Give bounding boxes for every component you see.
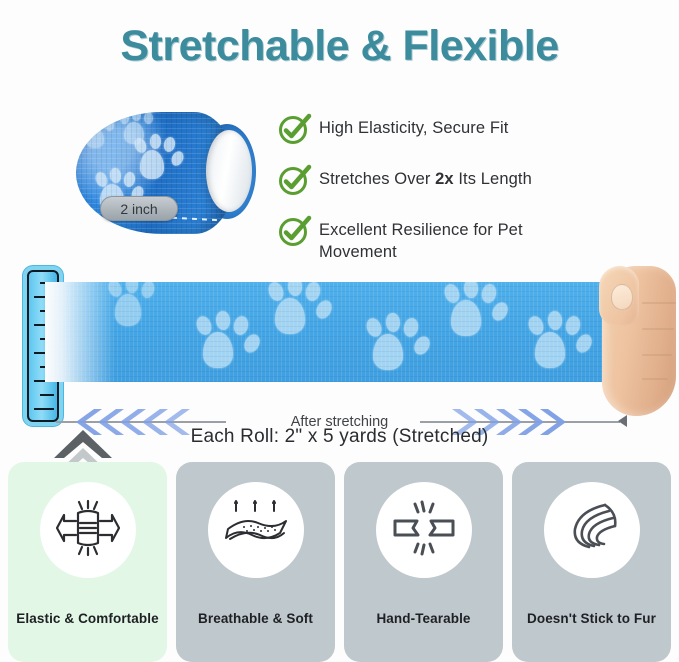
feature-card-elastic[interactable]: Elastic & Comfortable: [8, 462, 167, 662]
list-item-label: Excellent Resilience for Pet Movement: [319, 214, 544, 264]
feature-card-label: Breathable & Soft: [176, 611, 335, 626]
list-item: High Elasticity, Secure Fit: [278, 112, 658, 146]
thumb: [599, 266, 639, 326]
page-title: Stretchable & Flexible: [0, 22, 679, 71]
feature-card-breathable[interactable]: Breathable & Soft: [176, 462, 335, 662]
stretch-arrows-icon: [56, 499, 120, 562]
list-item: Stretches Over 2x Its Length: [278, 163, 658, 197]
stretched-bandage: [45, 282, 605, 382]
paw-print-icon: [365, 314, 437, 372]
feature-card-hand-tearable[interactable]: Hand-Tearable: [344, 462, 503, 662]
paw-print-icon: [527, 312, 599, 370]
icon-circle: [208, 482, 304, 578]
list-item-label-suffix: Its Length: [454, 170, 532, 188]
feature-card-label: Elastic & Comfortable: [8, 611, 167, 626]
product-roll-image: 2 inch: [68, 104, 258, 244]
icon-circle: [544, 482, 640, 578]
feature-card-label: Hand-Tearable: [344, 611, 503, 626]
green-check-icon: [278, 214, 312, 248]
list-item-label-emphasis: 2x: [435, 170, 454, 188]
list-item-label: Stretches Over 2x Its Length: [319, 163, 532, 191]
size-badge: 2 inch: [100, 196, 178, 221]
paw-print-icon: [82, 116, 122, 150]
icon-circle: [40, 482, 136, 578]
paw-print-icon: [443, 282, 515, 338]
hand-gripping-icon: [596, 252, 679, 432]
icon-circle: [376, 482, 472, 578]
paw-print-icon: [267, 282, 339, 336]
fur-swirl-icon: [561, 499, 623, 562]
tear-icon: [391, 499, 457, 562]
paw-print-icon: [134, 134, 190, 180]
breathable-fabric-icon: [222, 499, 290, 562]
green-check-icon: [278, 112, 312, 146]
paw-print-icon: [195, 312, 267, 370]
feature-card-no-stick[interactable]: Doesn't Stick to Fur: [512, 462, 671, 662]
feature-card-grid: Elastic & Comfortable: [0, 462, 679, 662]
roll-core-hole: [206, 130, 252, 212]
green-check-icon: [278, 163, 312, 197]
list-item-label-prefix: Stretches Over: [319, 170, 435, 188]
list-item-label: High Elasticity, Secure Fit: [319, 112, 508, 140]
bandage-fade-overlay: [45, 282, 115, 382]
paw-print-icon: [120, 112, 164, 146]
paw-print-icon: [107, 282, 169, 328]
thumbnail: [611, 284, 633, 310]
feature-card-label: Doesn't Stick to Fur: [512, 611, 671, 626]
